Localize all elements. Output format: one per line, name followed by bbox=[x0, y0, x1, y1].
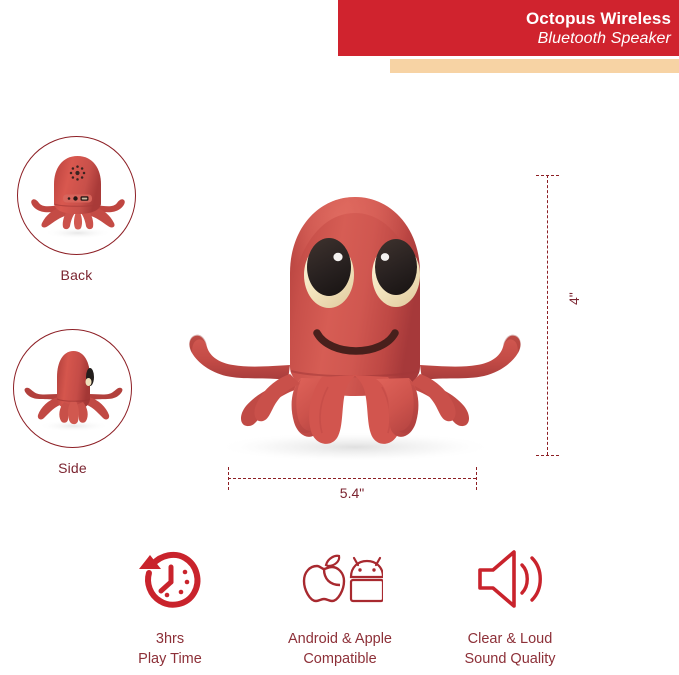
feature-play-time: 3hrs Play Time bbox=[90, 545, 250, 669]
feature-compatibility-line1: Android & Apple bbox=[288, 631, 392, 647]
features-row: 3hrs Play Time Android & Apple bbox=[90, 545, 590, 669]
feature-play-time-caption: 3hrs Play Time bbox=[138, 629, 202, 669]
feature-compatibility: Android & Apple Compatible bbox=[260, 545, 420, 669]
dimension-height-line bbox=[547, 175, 548, 455]
feature-compatibility-line2: Compatible bbox=[288, 649, 392, 669]
dimension-height-label: 4" bbox=[566, 292, 582, 305]
header-banner: Octopus Wireless Bluetooth Speaker bbox=[338, 0, 679, 56]
thumbnail-back-label: Back bbox=[17, 267, 136, 283]
speaker-volume-icon bbox=[474, 545, 546, 613]
clock-rotate-left-icon bbox=[137, 545, 203, 613]
thumbnail-side-label: Side bbox=[13, 460, 132, 476]
feature-sound-quality-line1: Clear & Loud bbox=[468, 631, 553, 647]
dimension-width-label: 5.4" bbox=[228, 485, 476, 501]
page-subtitle: Bluetooth Speaker bbox=[538, 29, 671, 48]
feature-sound-quality: Clear & Loud Sound Quality bbox=[430, 545, 590, 669]
feature-play-time-line1: 3hrs bbox=[156, 631, 184, 647]
octopus-side-view-icon bbox=[14, 330, 132, 448]
apple-android-logos-icon bbox=[297, 545, 383, 613]
octopus-speaker-front-view bbox=[170, 165, 540, 475]
octopus-rear-view-icon bbox=[18, 137, 136, 255]
thumbnail-side[interactable]: Side bbox=[13, 329, 132, 476]
feature-play-time-line2: Play Time bbox=[138, 649, 202, 669]
feature-compatibility-caption: Android & Apple Compatible bbox=[288, 629, 392, 669]
header-accent-band bbox=[390, 59, 679, 73]
thumbnail-back-frame bbox=[17, 136, 136, 255]
dimension-width-line bbox=[228, 478, 476, 479]
page-title: Octopus Wireless bbox=[526, 9, 671, 29]
dimension-height-cap-bottom bbox=[536, 455, 559, 456]
thumbnail-back[interactable]: Back bbox=[17, 136, 136, 283]
feature-sound-quality-caption: Clear & Loud Sound Quality bbox=[464, 629, 555, 669]
thumbnail-side-frame bbox=[13, 329, 132, 448]
feature-sound-quality-line2: Sound Quality bbox=[464, 649, 555, 669]
dimension-width-cap-right bbox=[476, 467, 477, 490]
product-image-main bbox=[170, 165, 540, 475]
